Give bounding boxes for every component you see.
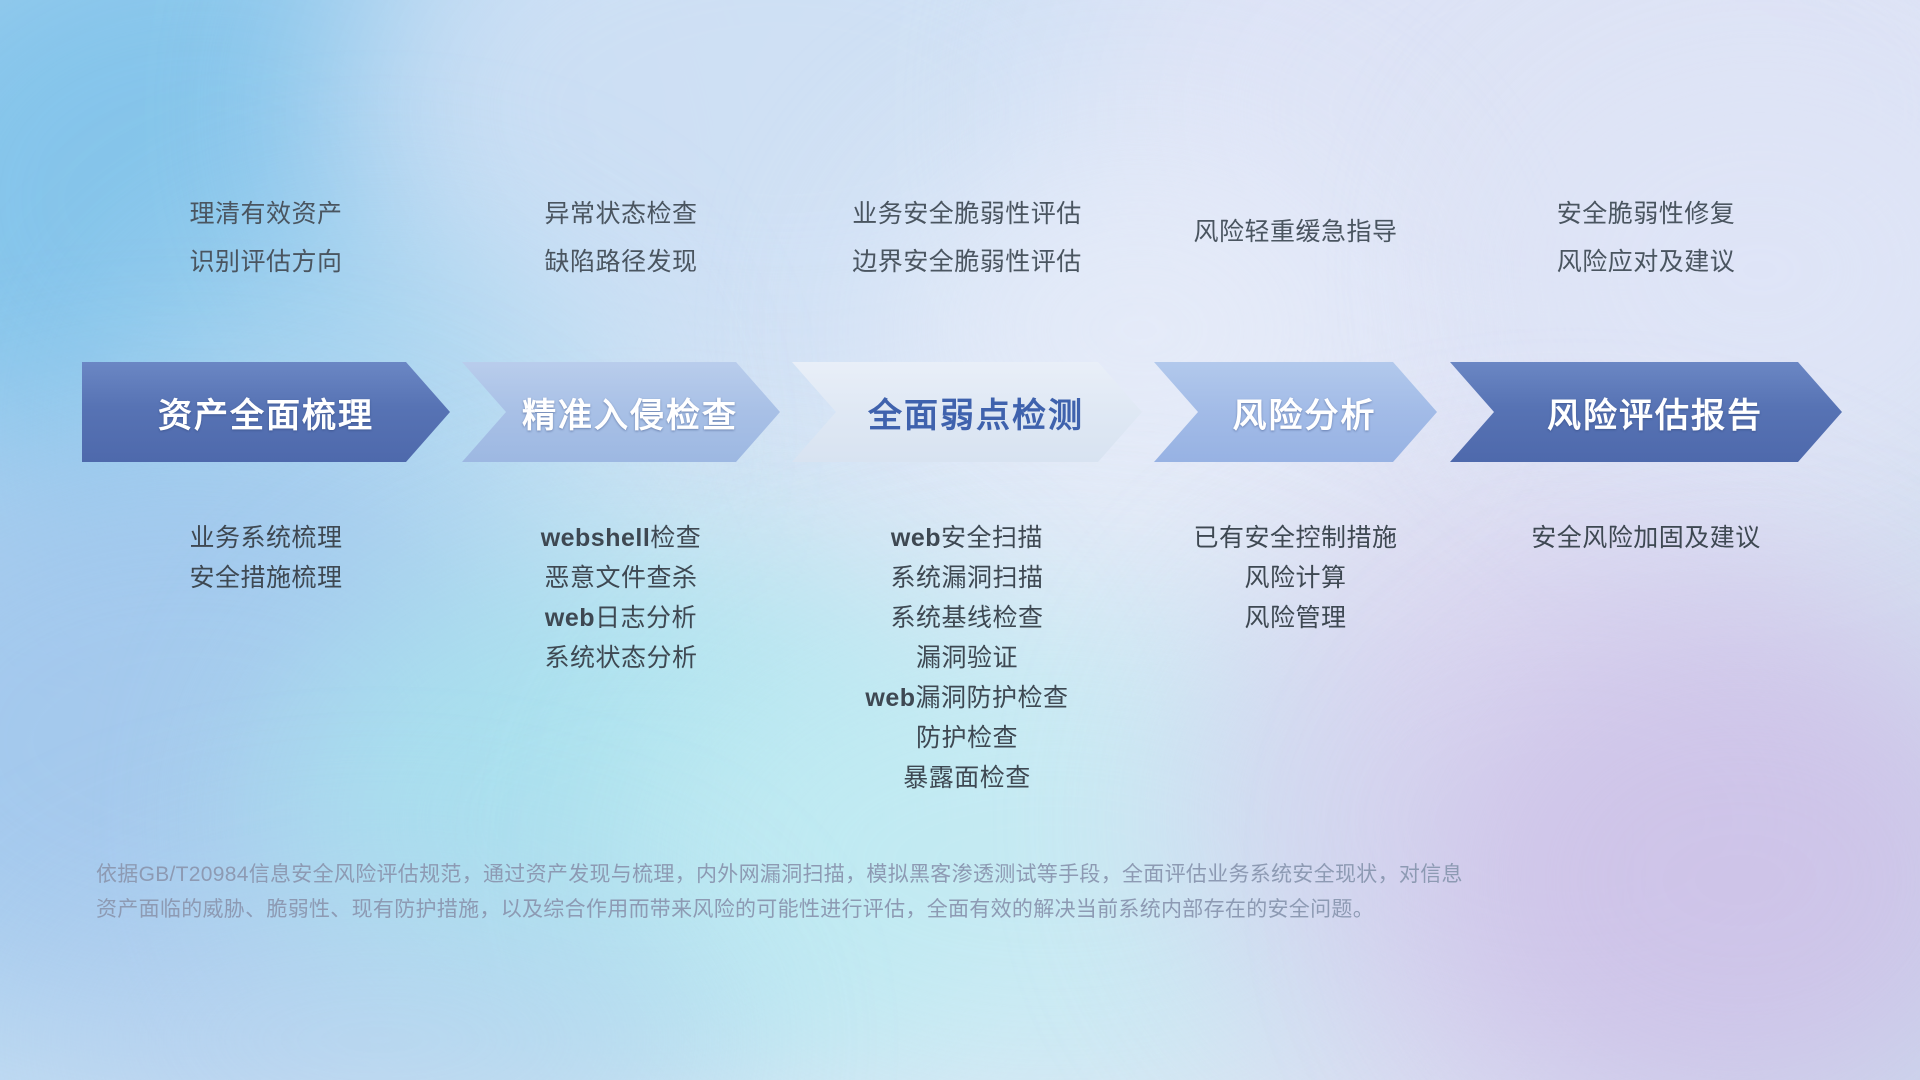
stage-inputs-5: 安全脆弱性修复风险应对及建议 [1436, 190, 1856, 286]
stage-task-item: 漏洞验证 [752, 638, 1182, 678]
stage-task-item: 风险计算 [1081, 558, 1511, 598]
stage-title: 全面弱点检测 [868, 388, 1084, 437]
stage-title: 风险分析 [1233, 388, 1377, 437]
task-keyword: webshell [541, 524, 651, 552]
stage-task-item: 安全风险加固及建议 [1431, 518, 1861, 558]
footer-line-2: 资产面临的威胁、脆弱性、现有防护措施，以及综合作用而带来风险的可能性进行评估，全… [96, 892, 1816, 927]
stage-task-item: 防护检查 [752, 718, 1182, 758]
task-keyword: web [545, 604, 595, 632]
footer-line-1: 依据GB/T20984信息安全风险评估规范，通过资产发现与梳理，内外网漏洞扫描，… [96, 857, 1816, 892]
stage-title: 资产全面梳理 [158, 388, 374, 437]
process-stage-1[interactable]: 资产全面梳理 [82, 362, 450, 462]
stage-title: 风险评估报告 [1547, 388, 1763, 437]
stage-task-item: web漏洞防护检查 [752, 678, 1182, 718]
stage-task-item: 风险管理 [1081, 598, 1511, 638]
process-stage-3[interactable]: 全面弱点检测 [792, 362, 1142, 462]
stage-task-item: 暴露面检查 [752, 758, 1182, 798]
process-stage-4[interactable]: 风险分析 [1154, 362, 1437, 462]
process-chevron-band: 资产全面梳理精准入侵检查全面弱点检测风险分析风险评估报告 [82, 362, 1842, 462]
process-stage-2[interactable]: 精准入侵检查 [462, 362, 780, 462]
task-keyword: web [865, 684, 915, 712]
stage-title: 精准入侵检查 [522, 388, 738, 437]
stage-tasks-5: 安全风险加固及建议 [1431, 518, 1861, 558]
stage-input-item: 风险应对及建议 [1436, 238, 1856, 286]
process-stage-5[interactable]: 风险评估报告 [1450, 362, 1842, 462]
task-keyword: web [891, 524, 941, 552]
footer-description: 依据GB/T20984信息安全风险评估规范，通过资产发现与梳理，内外网漏洞扫描，… [96, 857, 1816, 927]
stage-input-item: 安全脆弱性修复 [1436, 190, 1856, 238]
